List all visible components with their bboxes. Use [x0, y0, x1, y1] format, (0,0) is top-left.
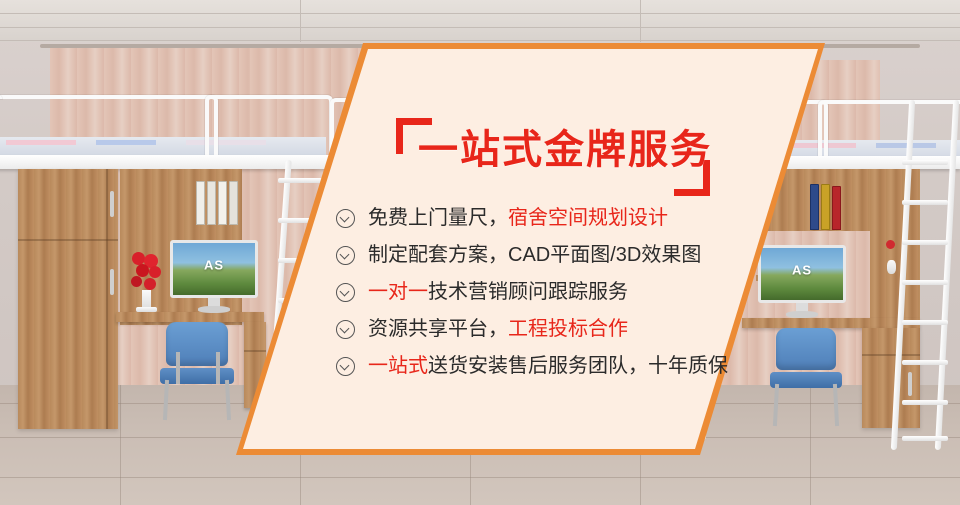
- list-item: 制定配套方案，CAD平面图/3D效果图: [336, 237, 756, 273]
- list-item-text: 一站式送货安装售后服务团队，十年质保: [368, 354, 728, 378]
- circled-chevron-down-icon: [336, 209, 355, 228]
- list-item: 一对一技术营销顾问跟踪服务: [336, 274, 756, 310]
- circled-chevron-down-icon: [336, 320, 355, 339]
- list-item-text: 一对一技术营销顾问跟踪服务: [368, 280, 628, 304]
- panel-content: 一站式金牌服务 免费上门量尺，宿舍空间规划设计 制定配套方案，CAD平面图/3D…: [0, 0, 960, 505]
- list-item-text: 资源共享平台，工程投标合作: [368, 317, 628, 341]
- list-item-text: 免费上门量尺，宿舍空间规划设计: [368, 206, 668, 230]
- circled-chevron-down-icon: [336, 246, 355, 265]
- promo-banner: AS: [0, 0, 960, 505]
- circled-chevron-down-icon: [336, 283, 355, 302]
- list-item: 资源共享平台，工程投标合作: [336, 311, 756, 347]
- list-item: 免费上门量尺，宿舍空间规划设计: [336, 200, 756, 236]
- list-item: 一站式送货安装售后服务团队，十年质保: [336, 348, 756, 384]
- service-list: 免费上门量尺，宿舍空间规划设计 制定配套方案，CAD平面图/3D效果图 一对一技…: [336, 200, 756, 385]
- page-title: 一站式金牌服务: [418, 127, 712, 173]
- list-item-text: 制定配套方案，CAD平面图/3D效果图: [368, 243, 701, 267]
- title-block: 一站式金牌服务: [396, 118, 696, 190]
- circled-chevron-down-icon: [336, 357, 355, 376]
